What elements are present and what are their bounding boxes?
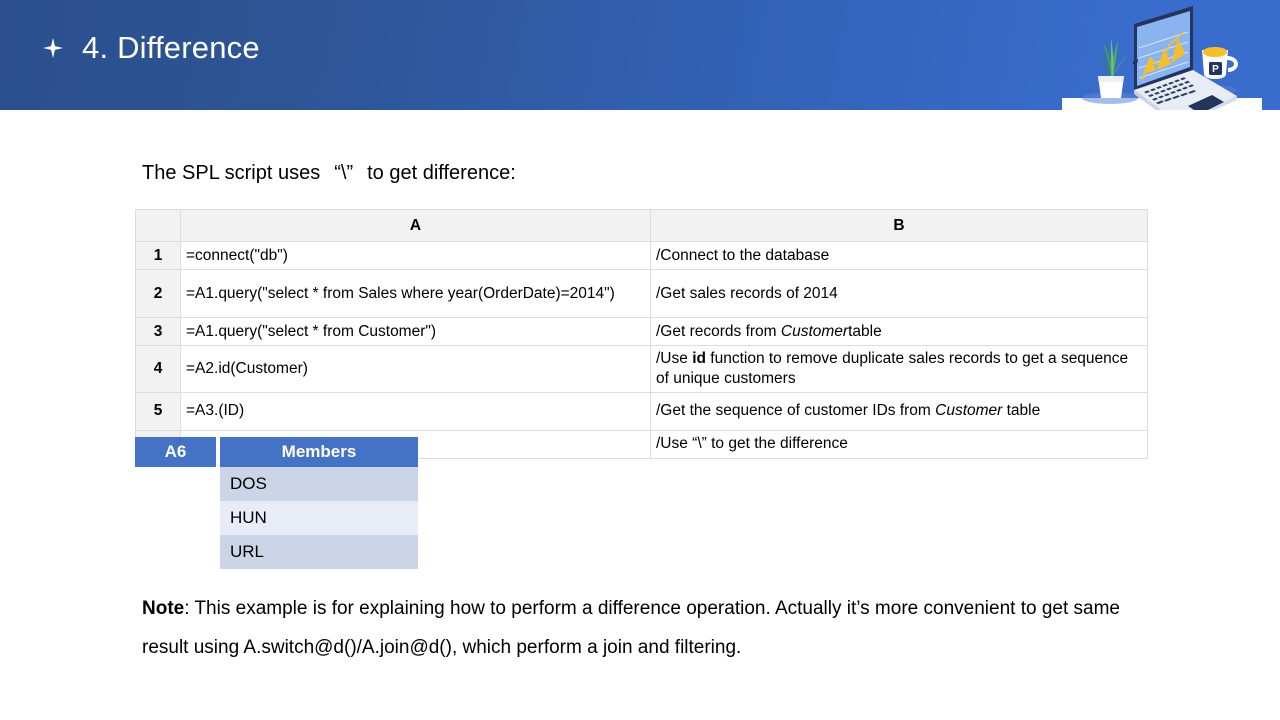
svg-text:P: P — [1212, 64, 1219, 75]
cell-b1[interactable]: /Connect to the database — [651, 242, 1148, 270]
cell-b1-text: /Connect to the database — [656, 247, 829, 264]
page-title: 4. Difference — [82, 30, 260, 66]
spl-script-table: A B 1 =connect("db") /Connect to the dat… — [135, 209, 1148, 459]
four-pointed-star-icon — [42, 37, 64, 59]
result-value-list: DOS HUN URL — [220, 467, 418, 569]
row-number: 1 — [136, 242, 181, 270]
table-row: 5 =A3.(ID) /Get the sequence of customer… — [136, 392, 1148, 430]
result-column-header-members: Members — [220, 437, 418, 467]
table-header-row: A B — [136, 210, 1148, 242]
cell-b6[interactable]: /Use “\” to get the difference — [651, 430, 1148, 458]
cell-b4-prefix: /Use — [656, 350, 692, 367]
intro-part1: The SPL script uses — [142, 162, 320, 184]
slide-header-bar: 4. Difference — [0, 0, 1280, 110]
row-number: 5 — [136, 392, 181, 430]
column-header-b: B — [651, 210, 1148, 242]
note-line1: : This example is for explaining how to … — [184, 598, 918, 619]
cell-a5[interactable]: =A3.(ID) — [181, 392, 651, 430]
intro-text: The SPL script uses“\”to get difference: — [142, 162, 516, 185]
list-item: URL — [220, 535, 418, 569]
result-cell-reference: A6 — [135, 437, 216, 467]
table-row: 4 =A2.id(Customer) /Use id function to r… — [136, 346, 1148, 393]
intro-quoted-operator: “\” — [334, 162, 353, 184]
table-corner-cell — [136, 210, 181, 242]
cell-b5[interactable]: /Get the sequence of customer IDs from C… — [651, 392, 1148, 430]
cell-a3[interactable]: =A1.query("select * from Customer") — [181, 318, 651, 346]
cell-a2[interactable]: =A1.query("select * from Sales where yea… — [181, 270, 651, 318]
cell-b5-prefix: /Get the sequence of customer IDs from — [656, 402, 935, 419]
list-item: DOS — [220, 467, 418, 501]
title-group: 4. Difference — [42, 30, 260, 66]
cell-b6-text: /Use “\” to get the difference — [656, 435, 848, 452]
cell-a1[interactable]: =connect("db") — [181, 242, 651, 270]
cell-b4[interactable]: /Use id function to remove duplicate sal… — [651, 346, 1148, 393]
cell-b3[interactable]: /Get records from Customertable — [651, 318, 1148, 346]
cell-b3-table-name: Customer — [781, 323, 848, 340]
row-number: 3 — [136, 318, 181, 346]
note-text: Note: This example is for explaining how… — [142, 590, 1147, 668]
cell-b5-suffix: table — [1002, 402, 1040, 419]
intro-part2: to get difference: — [367, 162, 516, 184]
column-header-a: A — [181, 210, 651, 242]
cell-b3-prefix: /Get records from — [656, 323, 781, 340]
result-header-row: A6 Members — [135, 437, 418, 467]
cell-b5-table-name: Customer — [935, 402, 1002, 419]
cell-b4-function-name: id — [692, 350, 706, 367]
laptop-desk-illustration: P — [1062, 0, 1262, 110]
list-item: HUN — [220, 501, 418, 535]
cell-a4[interactable]: =A2.id(Customer) — [181, 346, 651, 393]
table-row: 2 =A1.query("select * from Sales where y… — [136, 270, 1148, 318]
cell-b4-suffix: function to remove duplicate sales recor… — [656, 350, 1128, 387]
cell-b2-text: /Get sales records of 2014 — [656, 285, 838, 302]
row-number: 2 — [136, 270, 181, 318]
table-row: 1 =connect("db") /Connect to the databas… — [136, 242, 1148, 270]
a6-result-panel: A6 Members DOS HUN URL — [135, 437, 418, 569]
note-label: Note — [142, 598, 184, 619]
cell-b3-suffix: table — [848, 323, 882, 340]
row-number: 4 — [136, 346, 181, 393]
table-row: 3 =A1.query("select * from Customer") /G… — [136, 318, 1148, 346]
cell-b2[interactable]: /Get sales records of 2014 — [651, 270, 1148, 318]
